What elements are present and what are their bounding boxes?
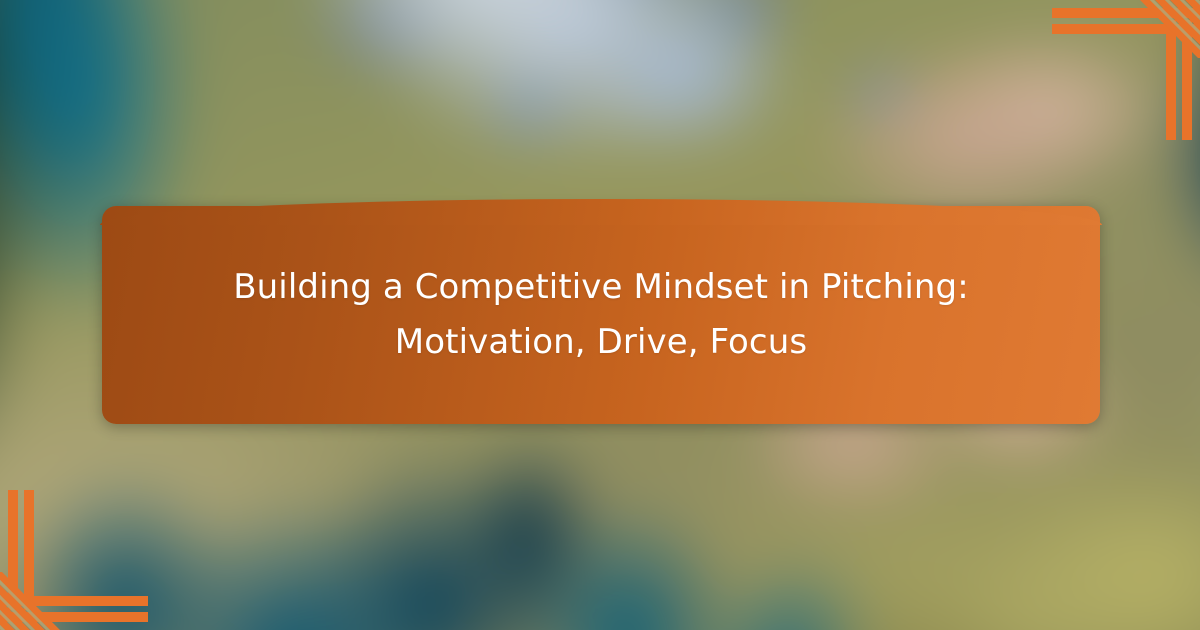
banner-content: Building a Competitive Mindset in Pitchi…: [102, 260, 1100, 370]
share-card-canvas: Building a Competitive Mindset in Pitchi…: [0, 0, 1200, 630]
title-line-1: Building a Competitive Mindset in Pitchi…: [142, 260, 1060, 315]
title-banner: Building a Competitive Mindset in Pitchi…: [102, 206, 1100, 424]
title-line-2: Motivation, Drive, Focus: [142, 315, 1060, 370]
